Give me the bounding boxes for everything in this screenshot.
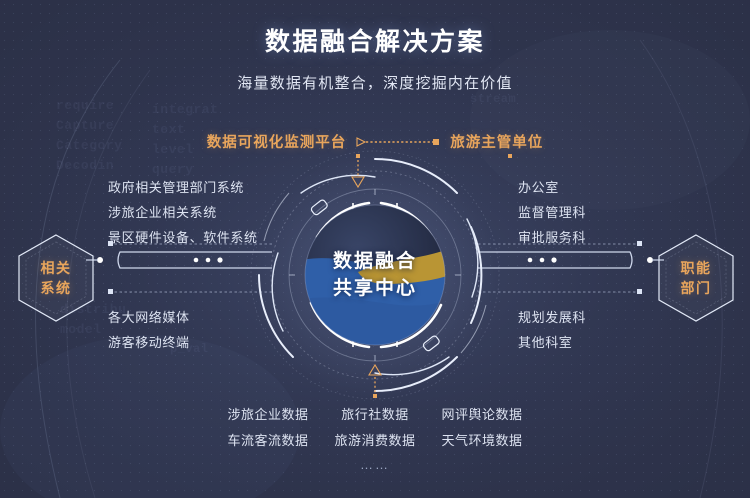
core-line2: 共享中心 xyxy=(333,275,417,302)
list-item: 政府相关管理部门系统 xyxy=(108,175,258,200)
hexagon-left-label: 相关 系统 xyxy=(14,232,98,324)
data-cell: 涉旅企业数据 xyxy=(215,402,322,428)
bottom-data-grid: 涉旅企业数据 旅行社数据 网评舆论数据 车流客流数据 旅游消费数据 天气环境数据… xyxy=(0,402,750,472)
core-label: 数据融合 共享中心 xyxy=(300,200,450,350)
list-item: 涉旅企业相关系统 xyxy=(108,200,258,225)
list-item: 游客移动终端 xyxy=(108,330,190,355)
hex-left-line2: 系统 xyxy=(41,278,72,298)
list-left-bottom: 各大网络媒体 游客移动终端 xyxy=(108,305,190,355)
hexagon-right-label: 职能 部门 xyxy=(654,232,738,324)
dotted-left-arrow-icon xyxy=(355,136,441,148)
list-item: 审批服务科 xyxy=(518,225,586,250)
data-cell: 旅游消费数据 xyxy=(322,428,429,454)
list-item: 景区硬件设备、软件系统 xyxy=(108,225,258,250)
hex-left-line1: 相关 xyxy=(41,258,72,278)
hex-right-line1: 职能 xyxy=(681,258,712,278)
hexagon-related-systems[interactable]: 相关 系统 xyxy=(14,232,98,324)
data-row-2: 车流客流数据 旅游消费数据 天气环境数据 xyxy=(215,428,536,454)
list-item: 各大网络媒体 xyxy=(108,305,190,330)
data-cell: 网评舆论数据 xyxy=(429,402,536,428)
label-tourism-authority: 旅游主管单位 xyxy=(450,131,543,152)
page-title: 数据融合解决方案 xyxy=(0,22,750,58)
list-item: 规划发展科 xyxy=(518,305,586,330)
data-cell: 旅行社数据 xyxy=(322,402,429,428)
hex-right-line2: 部门 xyxy=(681,278,712,298)
list-item: 监督管理科 xyxy=(518,200,586,225)
list-right-top: 办公室 监督管理科 审批服务科 xyxy=(518,175,586,250)
label-visualization-platform: 数据可视化监测平台 xyxy=(207,131,347,152)
hexagon-functional-departments[interactable]: 职能 部门 xyxy=(654,232,738,324)
list-item: 其他科室 xyxy=(518,330,586,355)
page-subtitle: 海量数据有机整合，深度挖掘内在价值 xyxy=(0,72,750,93)
data-cell: 天气环境数据 xyxy=(429,428,536,454)
core-line1: 数据融合 xyxy=(333,248,417,275)
data-row-1: 涉旅企业数据 旅行社数据 网评舆论数据 xyxy=(215,402,536,428)
data-cell: 车流客流数据 xyxy=(215,428,322,454)
data-ellipsis: …… xyxy=(360,457,390,472)
list-right-bottom: 规划发展科 其他科室 xyxy=(518,305,586,355)
list-left-top: 政府相关管理部门系统 涉旅企业相关系统 景区硬件设备、软件系统 xyxy=(108,175,258,250)
infographic-canvas: require Capture Category Decodin integra… xyxy=(0,0,750,498)
list-item: 办公室 xyxy=(518,175,586,200)
top-label-row: 数据可视化监测平台 旅游主管单位 xyxy=(0,131,750,152)
header: 数据融合解决方案 海量数据有机整合，深度挖掘内在价值 xyxy=(0,22,750,93)
